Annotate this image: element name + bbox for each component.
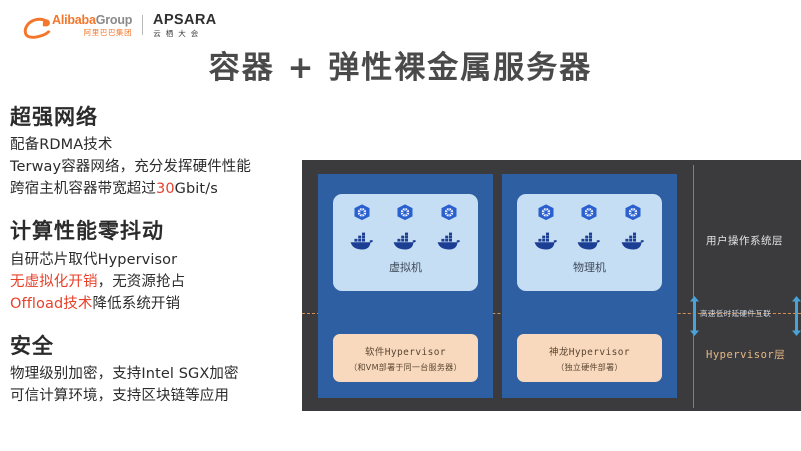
k8s-docker-stack: [620, 203, 646, 256]
k8s-docker-stack: [392, 203, 418, 256]
plain-text: 降低系统开销: [93, 296, 181, 312]
docker-icon: [436, 232, 462, 256]
plain-text: Terway容器网络，充分发挥硬件性能: [10, 159, 251, 175]
bidirectional-arrow-icon: [690, 296, 699, 336]
plain-text: 配备RDMA技术: [10, 137, 112, 153]
architecture-diagram: 虚拟机 软件Hypervisor （和VM部署于同一台服务器）: [302, 160, 801, 411]
k8s-docker-stack: [533, 203, 559, 256]
feature-line: Terway容器网络，充分发挥硬件性能: [10, 156, 302, 178]
interconnect-label: 高速低时延硬件互联: [700, 308, 771, 319]
kubernetes-icon: [352, 203, 372, 229]
docker-icon: [533, 232, 559, 256]
panel-physical-machine: 物理机 神龙Hypervisor （独立硬件部署）: [502, 174, 677, 398]
container-icon-row: [333, 194, 478, 256]
page-title: 容器 + 弹性裸金属服务器: [0, 42, 801, 87]
os-box-physical-machine: 物理机: [517, 194, 662, 291]
plain-text: Gbit/s: [175, 181, 218, 197]
docker-icon: [392, 232, 418, 256]
docker-icon: [620, 232, 646, 256]
plain-text: ，无资源抢占: [98, 274, 186, 290]
hypervisor-subtitle: （和VM部署于同一台服务器）: [349, 362, 462, 373]
feature-line: Offload技术降低系统开销: [10, 293, 302, 315]
alibaba-cn-text: 阿里巴巴集团: [52, 29, 132, 37]
feature-heading: 超强网络: [10, 104, 302, 130]
alibaba-group-text: Group: [96, 13, 133, 27]
docker-icon: [576, 232, 602, 256]
plain-text: 跨宿主机容器带宽超过: [10, 181, 156, 197]
feature-heading: 计算性能零抖动: [10, 218, 302, 244]
kubernetes-icon: [536, 203, 556, 229]
container-icon-row: [517, 194, 662, 256]
hypervisor-title: 软件Hypervisor: [365, 344, 446, 358]
layer-label-user-os: 用户操作系统层: [706, 233, 783, 248]
layer-label-hypervisor: Hypervisor层: [706, 347, 785, 362]
feature-line: 无虚拟化开销，无资源抢占: [10, 271, 302, 293]
os-box-virtual-machine: 虚拟机: [333, 194, 478, 291]
bidirectional-arrow-icon: [792, 296, 801, 336]
apsara-cn-text: 云栖大会: [153, 30, 217, 38]
feature-line: 可信计算环境，支持区块链等应用: [10, 385, 302, 407]
hypervisor-box-shenlong: 神龙Hypervisor （独立硬件部署）: [517, 334, 662, 382]
legend-vertical-divider: [693, 165, 694, 408]
kubernetes-icon: [439, 203, 459, 229]
feature-heading: 安全: [10, 333, 302, 359]
kubernetes-icon: [623, 203, 643, 229]
docker-icon: [349, 232, 375, 256]
feature-line: 跨宿主机容器带宽超过30Gbit/s: [10, 178, 302, 200]
feature-text-column: 超强网络配备RDMA技术Terway容器网络，充分发挥硬件性能跨宿主机容器带宽超…: [10, 104, 302, 425]
hypervisor-box-software: 软件Hypervisor （和VM部署于同一台服务器）: [333, 334, 478, 382]
os-box-label: 虚拟机: [333, 259, 478, 275]
highlight-text: 30: [156, 181, 175, 197]
kubernetes-icon: [395, 203, 415, 229]
feature-block: 超强网络配备RDMA技术Terway容器网络，充分发挥硬件性能跨宿主机容器带宽超…: [10, 104, 302, 200]
panel-virtual-machine: 虚拟机 软件Hypervisor （和VM部署于同一台服务器）: [318, 174, 493, 398]
hypervisor-subtitle: （独立硬件部署）: [556, 362, 622, 373]
feature-line: 自研芯片取代Hypervisor: [10, 249, 302, 271]
apsara-en-text: APSARA: [153, 13, 217, 28]
alibaba-wordmark: AlibabaGroup 阿里巴巴集团: [52, 14, 132, 36]
apsara-wordmark: APSARA 云栖大会: [153, 12, 217, 38]
feature-block: 安全物理级别加密，支持Intel SGX加密可信计算环境，支持区块链等应用: [10, 333, 302, 407]
k8s-docker-stack: [576, 203, 602, 256]
brand-logo-bar: AlibabaGroup 阿里巴巴集团 APSARA 云栖大会: [22, 11, 217, 39]
feature-line: 物理级别加密，支持Intel SGX加密: [10, 363, 302, 385]
feature-line: 配备RDMA技术: [10, 134, 302, 156]
os-box-label: 物理机: [517, 259, 662, 275]
kubernetes-icon: [579, 203, 599, 229]
feature-block: 计算性能零抖动自研芯片取代Hypervisor无虚拟化开销，无资源抢占Offlo…: [10, 218, 302, 314]
k8s-docker-stack: [436, 203, 462, 256]
alibaba-swirl-icon: [22, 15, 48, 35]
highlight-text: Offload技术: [10, 296, 93, 312]
plain-text: 物理级别加密，支持Intel SGX加密: [10, 366, 239, 382]
plain-text: 自研芯片取代Hypervisor: [10, 252, 177, 268]
highlight-text: 无虚拟化开销: [10, 274, 98, 290]
hypervisor-title: 神龙Hypervisor: [549, 344, 630, 358]
k8s-docker-stack: [349, 203, 375, 256]
plain-text: 可信计算环境，支持区块链等应用: [10, 388, 229, 404]
slide-canvas: AlibabaGroup 阿里巴巴集团 APSARA 云栖大会 容器 + 弹性裸…: [0, 0, 801, 451]
logo-separator: [142, 15, 143, 35]
alibaba-en-text: Alibaba: [52, 13, 96, 27]
